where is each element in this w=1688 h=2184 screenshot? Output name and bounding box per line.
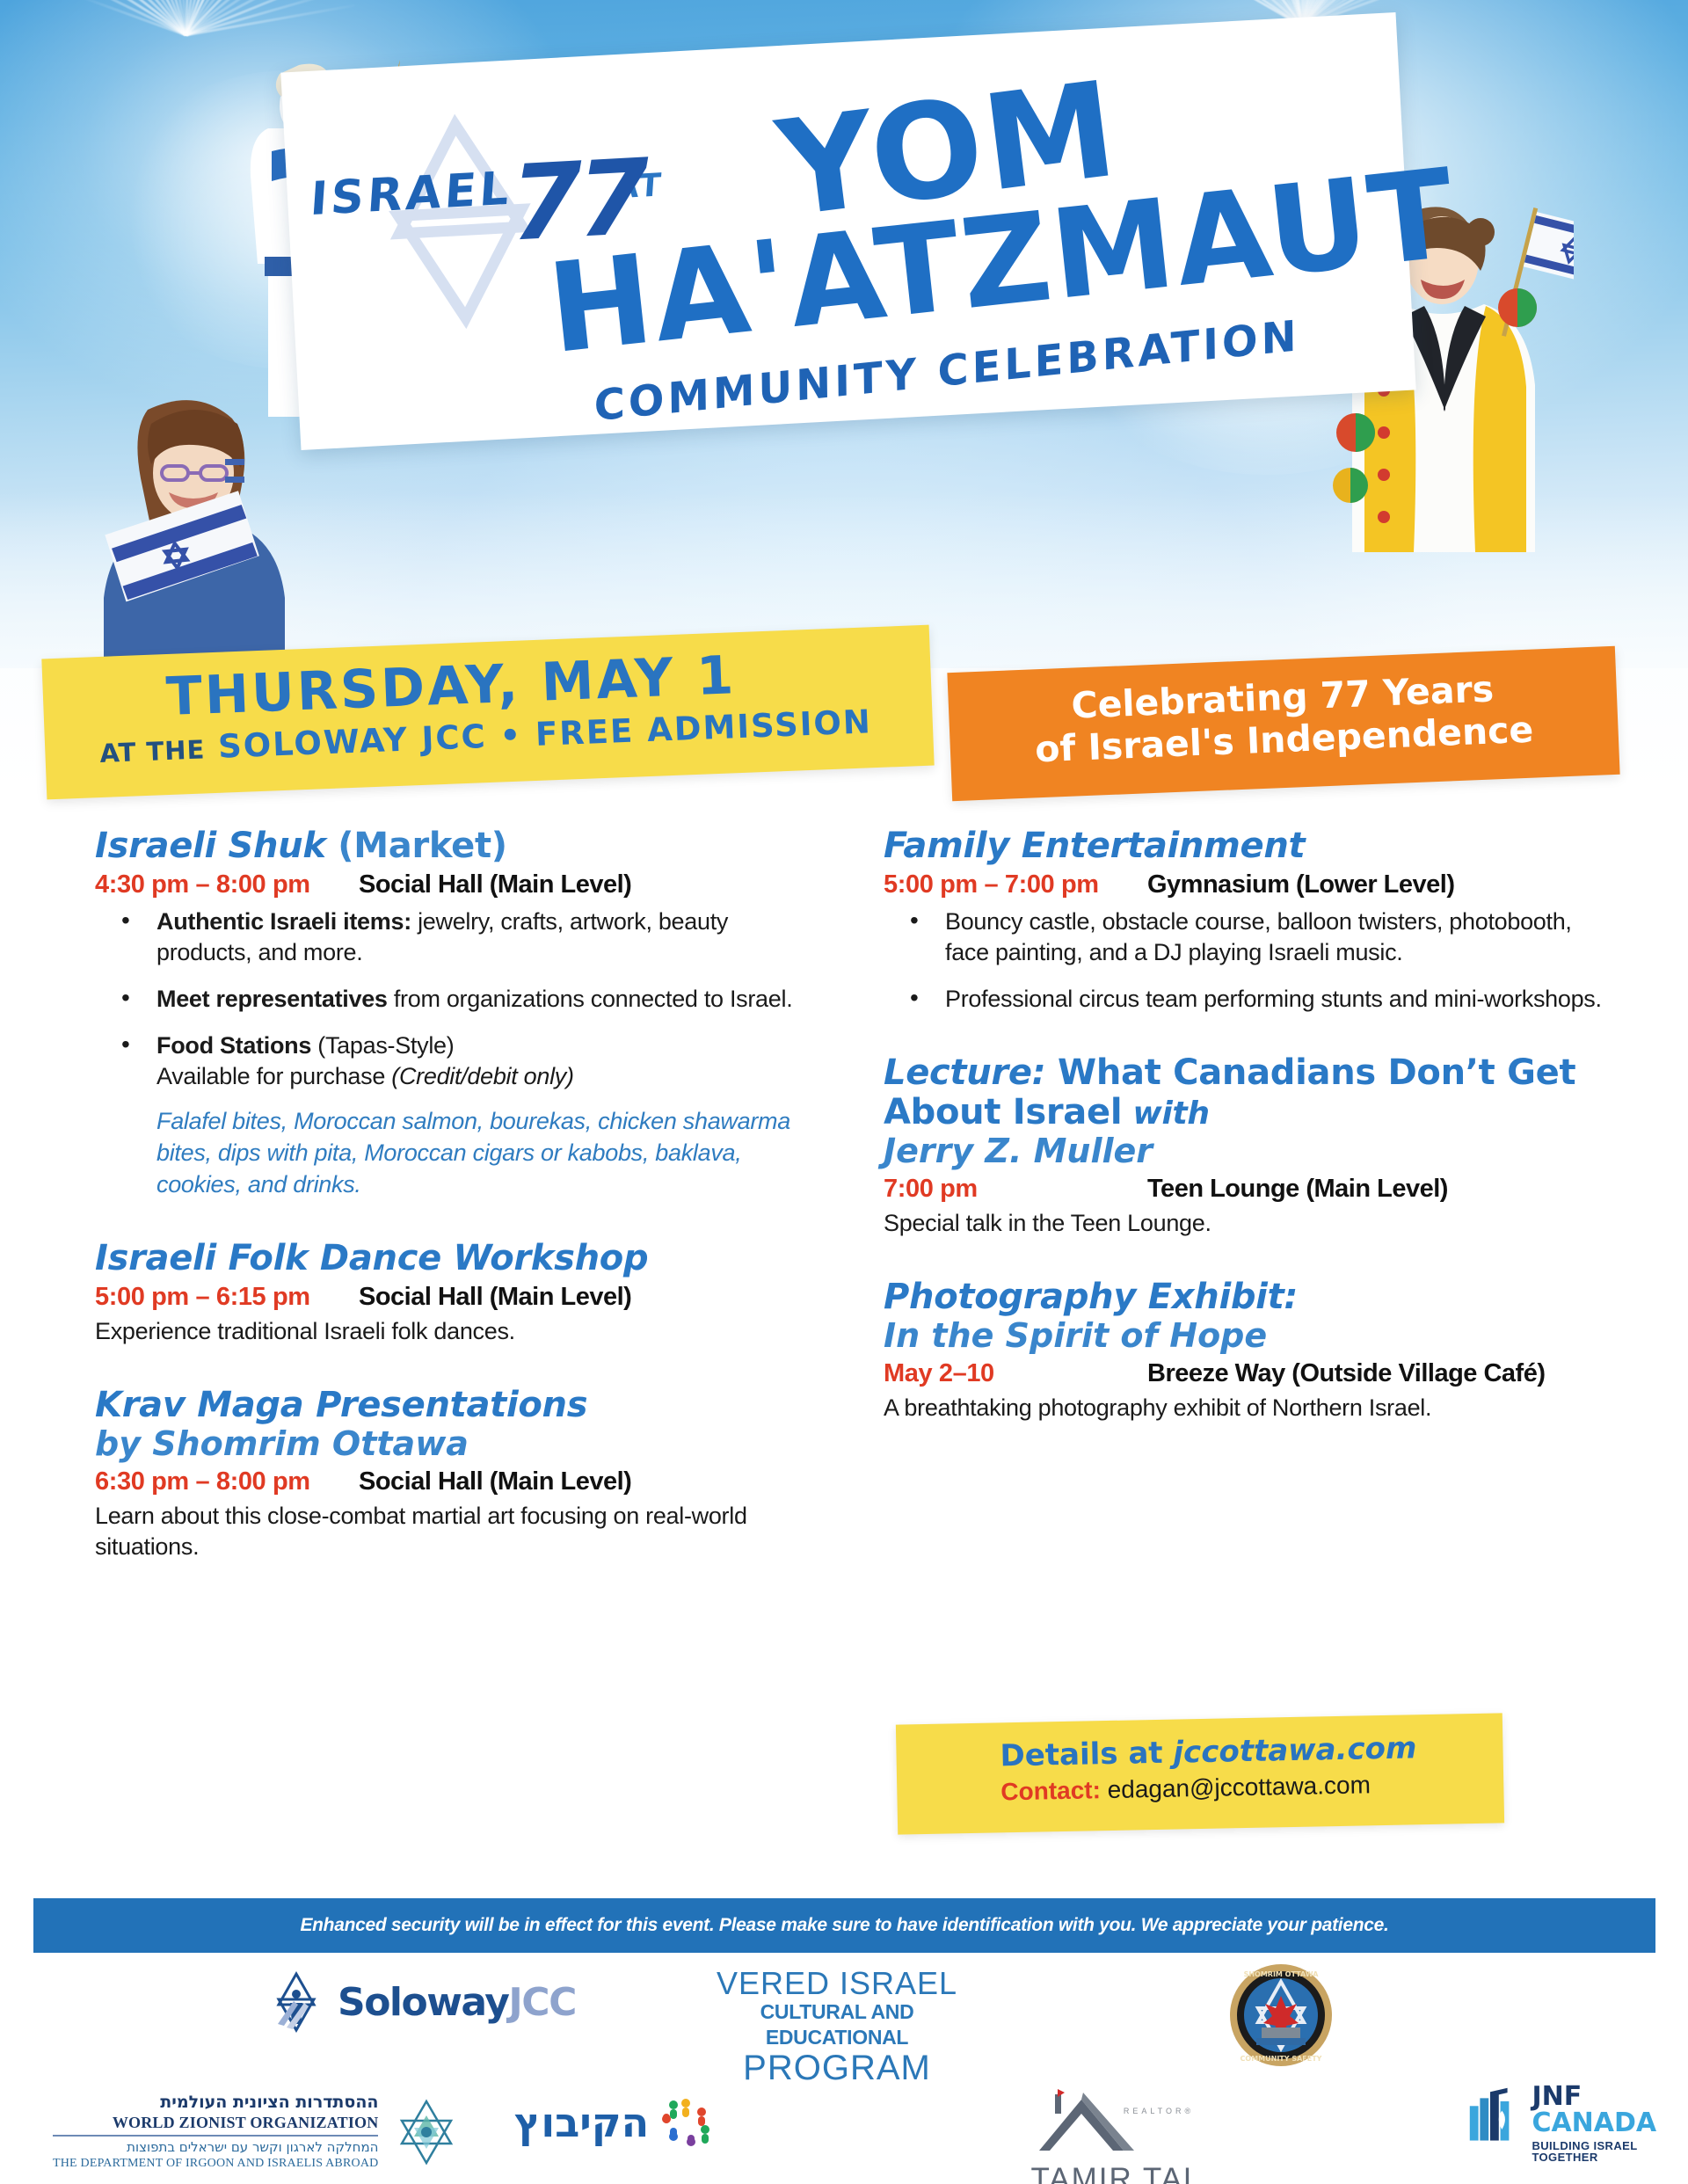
title-content: ISRAEL AT 77 YOM HA'ATZMAUT COMMUNITY CE… xyxy=(280,12,1415,450)
security-notice-text: Enhanced security will be in effect for … xyxy=(300,1915,1388,1936)
event-title: Lecture: What Canadians Don’t Get About … xyxy=(884,1053,1613,1132)
event-family-entertainment: Family Entertainment 5:00 pm – 7:00 pm G… xyxy=(884,826,1613,1015)
event-time: 6:30 pm – 8:00 pm xyxy=(95,1467,359,1496)
jnf-buildings-icon xyxy=(1468,2084,1523,2147)
event-bullet-list: Authentic Israeli items: jewelry, crafts… xyxy=(95,906,807,1200)
event-israeli-shuk: Israeli Shuk (Market) 4:30 pm – 8:00 pm … xyxy=(95,826,807,1200)
soloway-jcc-logo: SolowayJCC xyxy=(264,1969,576,2035)
event-title-line2: In the Spirit of Hope xyxy=(884,1317,1613,1355)
bullet-line2-italic: (Credit/debit only) xyxy=(391,1063,573,1089)
event-folk-dance: Israeli Folk Dance Workshop 5:00 pm – 6:… xyxy=(95,1239,807,1347)
event-location: Teen Lounge (Main Level) xyxy=(1147,1175,1448,1204)
event-meta: 4:30 pm – 8:00 pm Social Hall (Main Leve… xyxy=(95,870,807,899)
sponsor-logos-row-1: SolowayJCC VERED ISRAEL CULTURAL AND EDU… xyxy=(0,1961,1688,2077)
wzo-hebrew-dept: המחלקה לארגון וקשר עם ישראלים בתפוצות xyxy=(53,2139,378,2156)
event-description: Experience traditional Israeli folk danc… xyxy=(95,1316,807,1347)
details-line: Details at jccottawa.com xyxy=(1000,1729,1503,1773)
food-list: Falafel bites, Moroccan salmon, bourekas… xyxy=(156,1106,807,1200)
list-item: Professional circus team performing stun… xyxy=(884,984,1613,1015)
event-title-with: with xyxy=(1122,1096,1209,1132)
event-description: A breathtaking photography exhibit of No… xyxy=(884,1393,1613,1423)
event-title-sub: (Market) xyxy=(338,826,506,866)
soloway-wordmark: SolowayJCC xyxy=(338,1980,576,2025)
soloway-name: Soloway xyxy=(338,1980,508,2025)
wzo-english-dept: THE DEPARTMENT OF IRGOON AND ISRAELIS AB… xyxy=(53,2156,378,2172)
wzo-hebrew-name: ההסתדרות הציונית העולמית xyxy=(53,2093,378,2113)
event-time: 5:00 pm – 7:00 pm xyxy=(884,870,1147,899)
vered-line-1: VERED ISRAEL xyxy=(714,1968,960,1999)
event-meta: 5:00 pm – 6:15 pm Social Hall (Main Leve… xyxy=(95,1283,807,1312)
shomrim-top-text: SHOMRIM OTTAWA xyxy=(1244,1970,1320,1978)
jnf-line-1: JNF xyxy=(1532,2084,1688,2110)
bullet-line2: Available for purchase xyxy=(156,1063,391,1089)
event-location: Social Hall (Main Level) xyxy=(359,870,631,899)
event-speaker: Jerry Z. Muller xyxy=(884,1132,1613,1170)
venue-prefix: AT THE xyxy=(99,734,206,768)
event-title: Israeli Folk Dance Workshop xyxy=(95,1239,807,1278)
event-description: Learn about this close-combat martial ar… xyxy=(95,1501,807,1562)
event-location: Social Hall (Main Level) xyxy=(359,1467,631,1496)
event-time: 4:30 pm – 8:00 pm xyxy=(95,870,359,899)
event-meta: 6:30 pm – 8:00 pm Social Hall (Main Leve… xyxy=(95,1467,807,1496)
list-item: Bouncy castle, obstacle course, balloon … xyxy=(884,906,1613,968)
tamir-realtor-text: REALTOR® xyxy=(1124,2107,1194,2115)
divider xyxy=(53,2135,378,2137)
list-item: Authentic Israeli items: jewelry, crafts… xyxy=(95,906,807,968)
bullet-text: from organizations connected to Israel. xyxy=(388,986,793,1012)
details-box-text: Details at jccottawa.com Contact: edagan… xyxy=(896,1713,1504,1834)
event-krav-maga: Krav Maga Presentations by Shomrim Ottaw… xyxy=(95,1386,807,1562)
website-link[interactable]: jccottawa.com xyxy=(1173,1730,1417,1770)
events-column-left: Israeli Shuk (Market) 4:30 pm – 8:00 pm … xyxy=(95,826,807,1566)
jnf-line-3: BUILDING ISRAEL TOGETHER xyxy=(1532,2140,1688,2163)
event-lecture: Lecture: What Canadians Don’t Get About … xyxy=(884,1053,1613,1239)
security-notice-bar: Enhanced security will be in effect for … xyxy=(33,1898,1655,1953)
jnf-line-2: CANADA xyxy=(1532,2110,1688,2137)
event-title: Family Entertainment xyxy=(884,826,1613,866)
tamir-house-icon: REALTOR® xyxy=(1029,2087,1204,2158)
event-meta: 7:00 pm Teen Lounge (Main Level) xyxy=(884,1175,1613,1204)
event-time: May 2–10 xyxy=(884,1359,1147,1388)
world-zionist-organization-logo: ההסתדרות הציונית העולמית WORLD ZIONIST O… xyxy=(53,2093,462,2172)
israel-word: ISRAEL xyxy=(309,165,513,222)
jnf-canada-logo: JNF CANADA BUILDING ISRAEL TOGETHER xyxy=(1468,2084,1688,2163)
sponsor-logos-row-2: ההסתדרות הציונית העולמית WORLD ZIONIST O… xyxy=(0,2077,1688,2184)
list-item: Food Stations (Tapas-Style) Available fo… xyxy=(95,1030,807,1200)
event-location: Social Hall (Main Level) xyxy=(359,1283,631,1312)
shomrim-bottom-text: COMMUNITY SAFETY xyxy=(1241,2055,1322,2063)
vered-israel-logo: VERED ISRAEL CULTURAL AND EDUCATIONAL PR… xyxy=(714,1968,960,2086)
details-prefix: Details at xyxy=(1000,1736,1174,1774)
bullet-bold: Food Stations xyxy=(156,1032,311,1059)
hakibbutz-logo: הקיבוץ xyxy=(514,2096,712,2149)
kibbutz-wordmark: הקיבוץ xyxy=(514,2099,649,2146)
jnf-wordmark: JNF CANADA BUILDING ISRAEL TOGETHER xyxy=(1532,2084,1688,2163)
event-title-label: Lecture: xyxy=(884,1052,1045,1093)
event-time: 7:00 pm xyxy=(884,1175,1147,1204)
event-photography-exhibit: Photography Exhibit: In the Spirit of Ho… xyxy=(884,1278,1613,1423)
event-time: 5:00 pm – 6:15 pm xyxy=(95,1283,359,1312)
contact-label: Contact: xyxy=(1000,1776,1101,1805)
vered-line-2: CULTURAL AND EDUCATIONAL xyxy=(714,1999,960,2050)
event-poster: ISRAEL AT 77 YOM HA'ATZMAUT COMMUNITY CE… xyxy=(0,0,1688,2184)
tamir-name: TAMIR TAL xyxy=(1015,2162,1218,2184)
event-meta: 5:00 pm – 7:00 pm Gymnasium (Lower Level… xyxy=(884,870,1613,899)
event-title: Israeli Shuk (Market) xyxy=(95,826,807,866)
tamir-tal-realtor-logo: REALTOR® TAMIR TAL xyxy=(1015,2087,1218,2184)
event-title-main: Israeli Shuk xyxy=(95,826,326,866)
jcc-name: JCC xyxy=(508,1980,575,2025)
title-haatzmaut: HA'ATZMAUT xyxy=(543,158,1460,368)
wzo-english-name: WORLD ZIONIST ORGANIZATION xyxy=(53,2113,378,2133)
bullet-bold: Meet representatives xyxy=(156,986,388,1012)
event-bullet-list: Bouncy castle, obstacle course, balloon … xyxy=(884,906,1613,1015)
contact-email[interactable]: edagan@jccottawa.com xyxy=(1101,1771,1371,1803)
wzo-star-icon xyxy=(390,2096,462,2168)
contact-line: Contact: edagan@jccottawa.com xyxy=(1000,1768,1504,1806)
bullet-bold: Authentic Israeli items: xyxy=(156,908,411,935)
shomrim-ottawa-crest-logo: SHOMRIM OTTAWA COMMUNITY SAFETY xyxy=(1226,1961,1335,2070)
event-title: Photography Exhibit: xyxy=(884,1278,1613,1317)
wzo-text-block: ההסתדרות הציונית העולמית WORLD ZIONIST O… xyxy=(53,2093,378,2172)
celebration-banner-text: Celebrating 77 Years of Israel's Indepen… xyxy=(947,646,1619,801)
event-title: Krav Maga Presentations xyxy=(95,1386,807,1425)
events-column-right: Family Entertainment 5:00 pm – 7:00 pm G… xyxy=(884,826,1613,1427)
kibbutz-people-icon xyxy=(659,2096,712,2149)
event-description: Special talk in the Teen Lounge. xyxy=(884,1208,1613,1239)
event-title-line2: by Shomrim Ottawa xyxy=(95,1425,807,1463)
list-item: Meet representatives from organizations … xyxy=(95,984,807,1015)
event-meta: May 2–10 Breeze Way (Outside Village Caf… xyxy=(884,1359,1613,1388)
bullet-text: (Tapas-Style) xyxy=(311,1032,454,1059)
event-location: Gymnasium (Lower Level) xyxy=(1147,870,1455,899)
soloway-star-icon xyxy=(264,1969,329,2035)
event-location: Breeze Way (Outside Village Café) xyxy=(1147,1359,1545,1388)
